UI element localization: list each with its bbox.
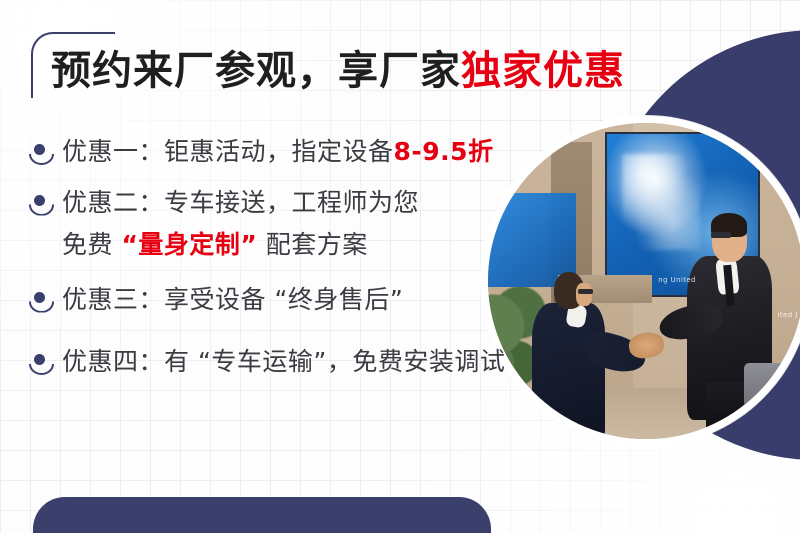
photo-gray-bag xyxy=(744,363,788,410)
benefit-3-text: 优惠三：享受设备 “终身售后” xyxy=(62,280,403,321)
list-item: 优惠一：钜惠活动，指定设备8-9.5折 xyxy=(28,132,588,173)
page-title-plain: 预约来厂参观，享厂家 xyxy=(51,48,461,94)
benefit-2-sub-accent: “量身定制” xyxy=(121,230,257,259)
dot-arc-bullet-icon xyxy=(28,140,54,166)
promo-banner: ng United ited J 预约来厂参观，享厂家独 xyxy=(0,0,800,533)
photo-black-handbag xyxy=(706,382,747,436)
dot-arc-bullet-icon xyxy=(28,288,54,314)
list-item: 优惠四：有 “专车运输”，免费安装调试 xyxy=(28,342,588,383)
photo-right-man-glasses xyxy=(711,232,732,238)
benefit-1-plain: 优惠一：钜惠活动，指定设备 xyxy=(62,137,394,166)
dot-arc-bullet-icon xyxy=(28,191,54,217)
dot-arc-bullet-icon xyxy=(28,350,54,376)
list-item: 优惠三：享受设备 “终身售后” xyxy=(28,280,588,321)
photo-screen-text-left: ng United xyxy=(658,276,696,284)
list-item: 优惠二：专车接送，工程师为您 免费 “量身定制” 配套方案 xyxy=(28,183,588,266)
photo-screen-text-right: ited J xyxy=(778,311,798,319)
benefit-2-text: 优惠二：专车接送，工程师为您 xyxy=(62,183,419,224)
benefit-1-text: 优惠一：钜惠活动，指定设备8-9.5折 xyxy=(62,132,494,173)
benefits-list: 优惠一：钜惠活动，指定设备8-9.5折 优惠二：专车接送，工程师为您 免费 “量… xyxy=(28,132,588,393)
benefit-2-sub-suffix: 配套方案 xyxy=(257,230,367,259)
page-title: 预约来厂参观，享厂家独家优惠 xyxy=(51,48,625,94)
benefit-1-accent: 8-9.5折 xyxy=(394,137,494,166)
benefit-2-plain: 优惠二：专车接送，工程师为您 xyxy=(62,188,419,217)
content-column: 预约来厂参观，享厂家独家优惠 优惠一：钜惠活动，指定设备8-9.5折 优惠二：专… xyxy=(0,0,620,533)
benefit-2-subtext: 免费 “量身定制” 配套方案 xyxy=(62,225,588,266)
page-title-accent: 独家优惠 xyxy=(461,48,625,94)
benefit-4-text: 优惠四：有 “专车运输”，免费安装调试 xyxy=(62,342,505,383)
benefit-2-sub-prefix: 免费 xyxy=(62,230,121,259)
